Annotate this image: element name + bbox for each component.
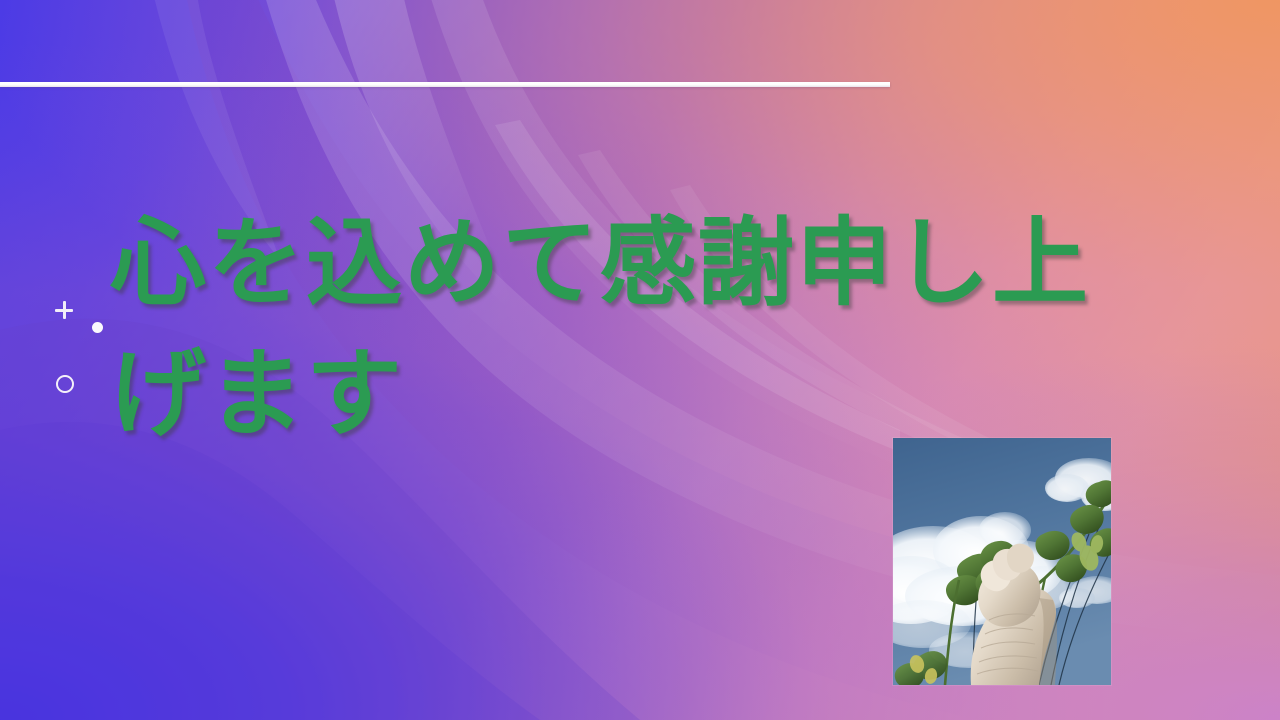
slide-headline: 心を込めて感謝申し上げます xyxy=(110,198,1120,459)
presentation-slide: 心を込めて感謝申し上げます xyxy=(0,0,1280,720)
top-horizontal-rule xyxy=(0,82,890,87)
hops-harvest-photo xyxy=(893,438,1111,685)
